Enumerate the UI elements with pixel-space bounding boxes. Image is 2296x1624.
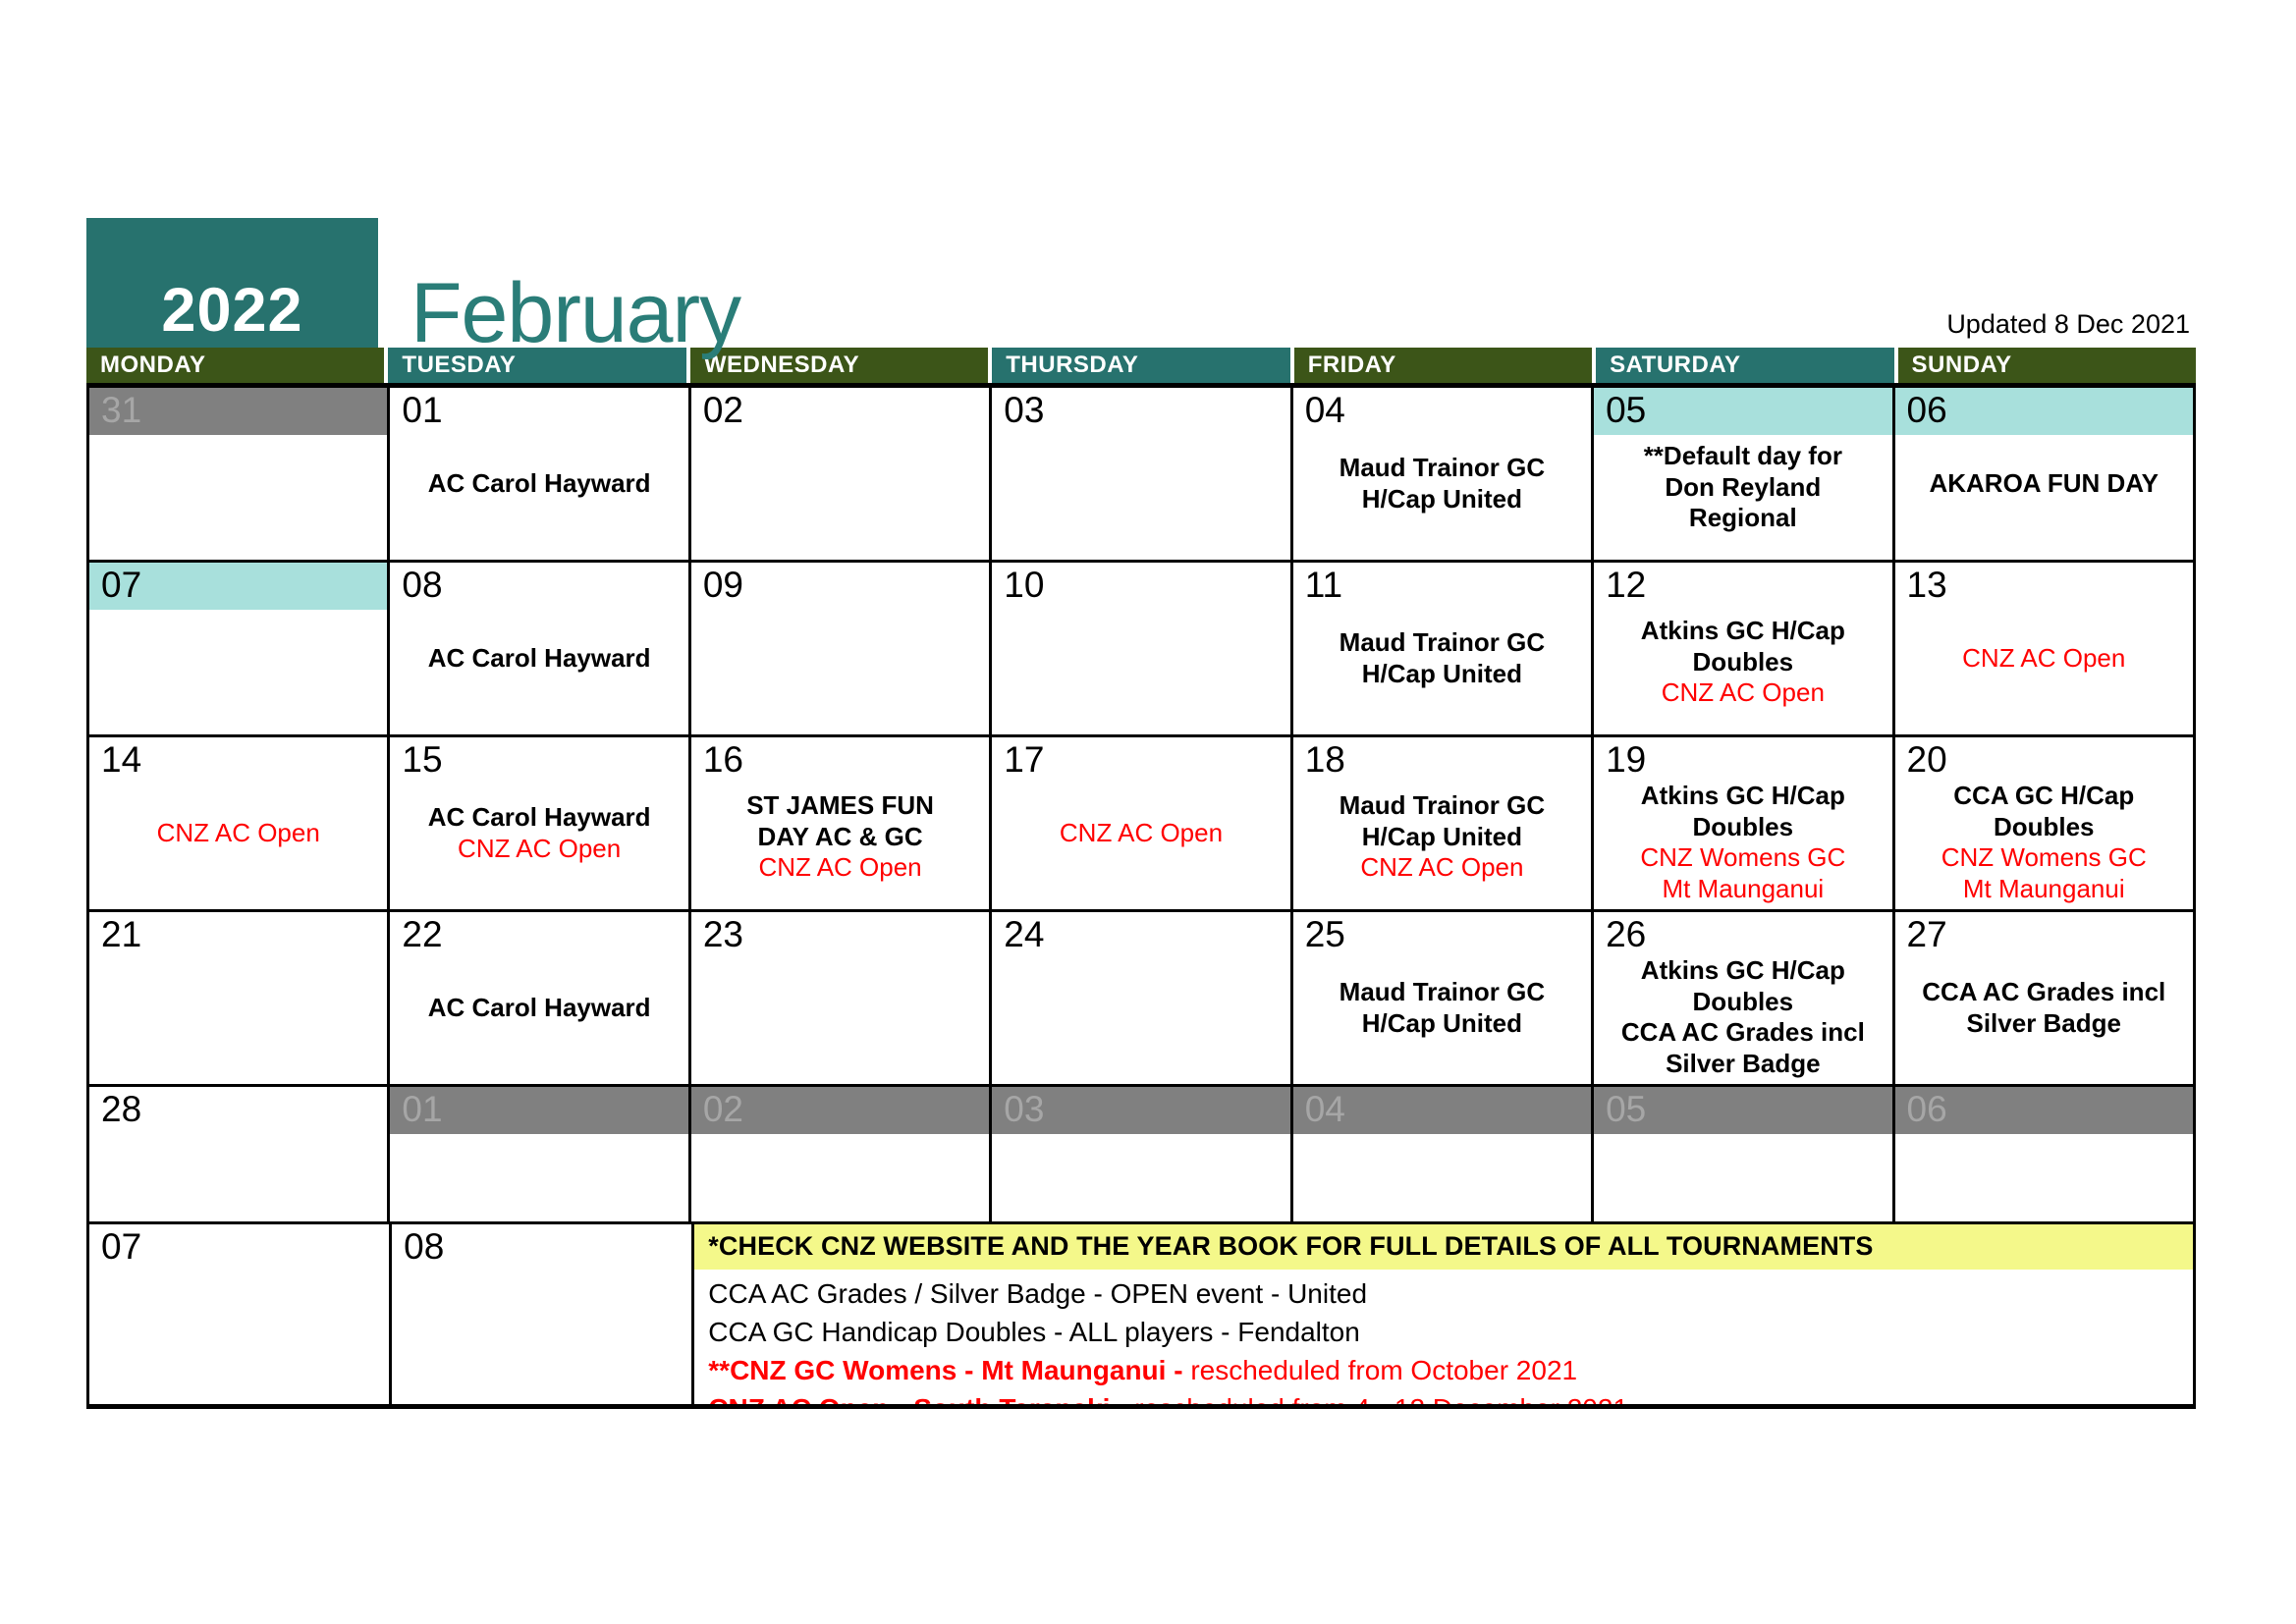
day-cell[interactable]: 12Atkins GC H/CapDoublesCNZ AC Open (1594, 563, 1894, 734)
event-text: CCA AC Grades incl (1600, 1017, 1886, 1049)
event-text: AC Carol Hayward (396, 643, 682, 675)
event-text: CCA AC Grades incl (1901, 977, 2187, 1008)
day-cell[interactable]: 18Maud Trainor GCH/Cap UnitedCNZ AC Open (1293, 737, 1594, 909)
day-number: 07 (89, 1224, 389, 1272)
day-cell[interactable]: 04 (1293, 1087, 1594, 1221)
day-number: 16 (691, 737, 989, 785)
day-events: CCA GC H/CapDoublesCNZ Womens GCMt Maung… (1895, 781, 2193, 905)
footer-note: CCA GC Handicap Doubles - ALL players - … (694, 1308, 2193, 1346)
day-cell[interactable]: 05 (1594, 1087, 1894, 1221)
day-number: 08 (390, 563, 687, 610)
day-number: 03 (992, 388, 1289, 435)
day-cell[interactable]: 08 (392, 1224, 694, 1404)
event-text: CNZ AC Open (1299, 852, 1585, 884)
calendar-sheet: 2022 February Updated 8 Dec 2021 MONDAYT… (86, 218, 2196, 1409)
day-number: 20 (1895, 737, 2193, 785)
event-text: H/Cap United (1299, 659, 1585, 690)
day-events: **Default day forDon ReylandRegional (1594, 441, 1891, 534)
day-number: 03 (992, 1087, 1289, 1134)
month-title: February (410, 271, 740, 355)
event-text: Mt Maunganui (1901, 874, 2187, 905)
day-cell[interactable]: 11Maud Trainor GCH/Cap United (1293, 563, 1594, 734)
footer-note-emphasis: CNZ AC Open - South Taranaki (708, 1393, 1110, 1404)
day-cell[interactable]: 26Atkins GC H/CapDoublesCCA AC Grades in… (1594, 912, 1894, 1084)
weekday-header-saturday: SATURDAY (1596, 348, 1893, 383)
day-cell[interactable]: 25Maud Trainor GCH/Cap United (1293, 912, 1594, 1084)
event-text: Doubles (1901, 812, 2187, 843)
event-text: Atkins GC H/Cap (1600, 781, 1886, 812)
year-badge: 2022 (86, 218, 378, 348)
day-events: Atkins GC H/CapDoublesCNZ AC Open (1594, 616, 1891, 709)
event-text: Atkins GC H/Cap (1600, 616, 1886, 647)
day-number: 09 (691, 563, 989, 610)
day-number: 31 (89, 388, 387, 435)
event-text: AC Carol Hayward (396, 468, 682, 500)
day-number: 22 (390, 912, 687, 959)
day-number: 05 (1594, 388, 1891, 435)
day-events: Maud Trainor GCH/Cap UnitedCNZ AC Open (1293, 790, 1591, 884)
event-text: ST JAMES FUN (697, 790, 983, 822)
event-text: Atkins GC H/Cap (1600, 955, 1886, 987)
day-events: AC Carol Hayward (390, 468, 687, 500)
day-cell[interactable]: 01 (390, 1087, 690, 1221)
day-cell[interactable]: 08AC Carol Hayward (390, 563, 690, 734)
day-events: Atkins GC H/CapDoublesCCA AC Grades incl… (1594, 955, 1891, 1080)
day-cell[interactable]: 09 (691, 563, 992, 734)
footer-note: CCA AC Grades / Silver Badge - OPEN even… (694, 1270, 2193, 1308)
day-events: AC Carol Hayward (390, 643, 687, 675)
event-text: CNZ AC Open (697, 852, 983, 884)
day-number: 27 (1895, 912, 2193, 959)
day-cell[interactable]: 14CNZ AC Open (89, 737, 390, 909)
day-cell[interactable]: 03 (992, 388, 1292, 560)
day-events: CNZ AC Open (89, 818, 387, 849)
event-text: Doubles (1600, 647, 1886, 678)
day-number: 12 (1594, 563, 1891, 610)
day-events: CNZ AC Open (1895, 643, 2193, 675)
day-cell[interactable]: 02 (691, 1087, 992, 1221)
day-number: 02 (691, 388, 989, 435)
event-text: Don Reyland (1600, 472, 1886, 504)
week-row: 2122AC Carol Hayward232425Maud Trainor G… (89, 912, 2193, 1087)
day-cell[interactable]: 19Atkins GC H/CapDoublesCNZ Womens GCMt … (1594, 737, 1894, 909)
day-events: CNZ AC Open (992, 818, 1289, 849)
day-events: Atkins GC H/CapDoublesCNZ Womens GCMt Ma… (1594, 781, 1891, 905)
week-row: 28010203040506 (89, 1087, 2193, 1224)
day-number: 01 (390, 388, 687, 435)
event-text: Regional (1600, 503, 1886, 534)
event-text: Doubles (1600, 812, 1886, 843)
day-cell[interactable]: 28 (89, 1087, 390, 1221)
day-cell[interactable]: 07 (89, 1224, 392, 1404)
event-text: **Default day for (1600, 441, 1886, 472)
event-text: Maud Trainor GC (1299, 627, 1585, 659)
footer-row: 0708*CHECK CNZ WEBSITE AND THE YEAR BOOK… (89, 1224, 2193, 1404)
footer-notes-panel: *CHECK CNZ WEBSITE AND THE YEAR BOOK FOR… (694, 1224, 2193, 1404)
weekday-header-friday: FRIDAY (1294, 348, 1592, 383)
footer-note: CNZ AC Open - South Taranaki - reschedul… (694, 1384, 2193, 1404)
day-cell[interactable]: 07 (89, 563, 390, 734)
week-row: 3101AC Carol Hayward020304Maud Trainor G… (89, 388, 2193, 563)
event-text: AC Carol Hayward (396, 802, 682, 834)
day-number: 28 (89, 1087, 387, 1134)
day-cell[interactable]: 02 (691, 388, 992, 560)
day-number: 23 (691, 912, 989, 959)
day-number: 06 (1895, 1087, 2193, 1134)
event-text: AKAROA FUN DAY (1901, 468, 2187, 500)
event-text: Silver Badge (1600, 1049, 1886, 1080)
day-number: 15 (390, 737, 687, 785)
day-events: ST JAMES FUNDAY AC & GCCNZ AC Open (691, 790, 989, 884)
day-events: AKAROA FUN DAY (1895, 468, 2193, 500)
year-label: 2022 (161, 280, 302, 342)
event-text: Doubles (1600, 987, 1886, 1018)
day-number: 21 (89, 912, 387, 959)
day-number: 24 (992, 912, 1289, 959)
week-row: 0708AC Carol Hayward091011Maud Trainor G… (89, 563, 2193, 737)
weekday-header-monday: MONDAY (86, 348, 384, 383)
event-text: CNZ Womens GC (1901, 842, 2187, 874)
day-events: Maud Trainor GCH/Cap United (1293, 977, 1591, 1039)
day-cell[interactable]: 16ST JAMES FUNDAY AC & GCCNZ AC Open (691, 737, 992, 909)
event-text: H/Cap United (1299, 822, 1585, 853)
day-cell[interactable]: 06 (1895, 1087, 2193, 1221)
day-number: 06 (1895, 388, 2193, 435)
day-events: CCA AC Grades inclSilver Badge (1895, 977, 2193, 1039)
day-cell[interactable]: 06AKAROA FUN DAY (1895, 388, 2193, 560)
event-text: H/Cap United (1299, 484, 1585, 515)
day-number: 13 (1895, 563, 2193, 610)
day-number: 07 (89, 563, 387, 610)
day-number: 04 (1293, 388, 1591, 435)
weekday-header-thursday: THURSDAY (992, 348, 1289, 383)
calendar-grid: 3101AC Carol Hayward020304Maud Trainor G… (86, 383, 2196, 1409)
day-cell[interactable]: 17CNZ AC Open (992, 737, 1292, 909)
day-events: Maud Trainor GCH/Cap United (1293, 627, 1591, 689)
day-number: 18 (1293, 737, 1591, 785)
event-text: CCA GC H/Cap (1901, 781, 2187, 812)
day-cell[interactable]: 01AC Carol Hayward (390, 388, 690, 560)
footer-note: **CNZ GC Womens - Mt Maunganui - resched… (694, 1346, 2193, 1384)
event-text: Mt Maunganui (1600, 874, 1886, 905)
day-number: 25 (1293, 912, 1591, 959)
day-number: 05 (1594, 1087, 1891, 1134)
day-events: AC Carol HaywardCNZ AC Open (390, 802, 687, 864)
day-cell[interactable]: 20CCA GC H/CapDoublesCNZ Womens GCMt Mau… (1895, 737, 2193, 909)
day-cell[interactable]: 27CCA AC Grades inclSilver Badge (1895, 912, 2193, 1084)
event-text: AC Carol Hayward (396, 993, 682, 1024)
week-row: 14CNZ AC Open15AC Carol HaywardCNZ AC Op… (89, 737, 2193, 912)
day-cell[interactable]: 21 (89, 912, 390, 1084)
event-text: Maud Trainor GC (1299, 790, 1585, 822)
weekday-header-row: MONDAYTUESDAYWEDNESDAYTHURSDAYFRIDAYSATU… (86, 348, 2196, 383)
event-text: CNZ AC Open (95, 818, 381, 849)
day-number: 08 (392, 1224, 691, 1272)
day-cell[interactable]: 31 (89, 388, 390, 560)
day-number: 01 (390, 1087, 687, 1134)
day-cell[interactable]: 23 (691, 912, 992, 1084)
notes-banner: *CHECK CNZ WEBSITE AND THE YEAR BOOK FOR… (694, 1224, 2193, 1270)
day-cell[interactable]: 10 (992, 563, 1292, 734)
event-text: CNZ Womens GC (1600, 842, 1886, 874)
day-cell[interactable]: 22AC Carol Hayward (390, 912, 690, 1084)
footer-note-rest: rescheduled from October 2021 (1190, 1355, 1577, 1385)
event-text: Silver Badge (1901, 1008, 2187, 1040)
event-text: Maud Trainor GC (1299, 453, 1585, 484)
day-cell[interactable]: 24 (992, 912, 1292, 1084)
day-events: AC Carol Hayward (390, 993, 687, 1024)
weekday-header-sunday: SUNDAY (1898, 348, 2196, 383)
day-number: 04 (1293, 1087, 1591, 1134)
day-cell[interactable]: 05**Default day forDon ReylandRegional (1594, 388, 1894, 560)
day-cell[interactable]: 04Maud Trainor GCH/Cap United (1293, 388, 1594, 560)
day-cell[interactable]: 03 (992, 1087, 1292, 1221)
day-number: 19 (1594, 737, 1891, 785)
event-text: Maud Trainor GC (1299, 977, 1585, 1008)
day-cell[interactable]: 13CNZ AC Open (1895, 563, 2193, 734)
event-text: CNZ AC Open (998, 818, 1284, 849)
calendar-masthead: 2022 February Updated 8 Dec 2021 (86, 218, 2196, 348)
event-text: CNZ AC Open (1901, 643, 2187, 675)
footer-note-emphasis: **CNZ GC Womens - Mt Maunganui - (708, 1355, 1190, 1385)
day-number: 26 (1594, 912, 1891, 959)
day-cell[interactable]: 15AC Carol HaywardCNZ AC Open (390, 737, 690, 909)
updated-label: Updated 8 Dec 2021 (1946, 311, 2190, 338)
day-number: 10 (992, 563, 1289, 610)
day-number: 14 (89, 737, 387, 785)
day-number: 17 (992, 737, 1289, 785)
event-text: DAY AC & GC (697, 822, 983, 853)
day-events: Maud Trainor GCH/Cap United (1293, 453, 1591, 514)
event-text: CNZ AC Open (396, 834, 682, 865)
calendar-page: 2022 February Updated 8 Dec 2021 MONDAYT… (0, 0, 2296, 1624)
day-number: 02 (691, 1087, 989, 1134)
footer-note-rest: - rescheduled from 4 - 12 December 2021 (1110, 1393, 1628, 1404)
event-text: CNZ AC Open (1600, 677, 1886, 709)
day-number: 11 (1293, 563, 1591, 610)
event-text: H/Cap United (1299, 1008, 1585, 1040)
